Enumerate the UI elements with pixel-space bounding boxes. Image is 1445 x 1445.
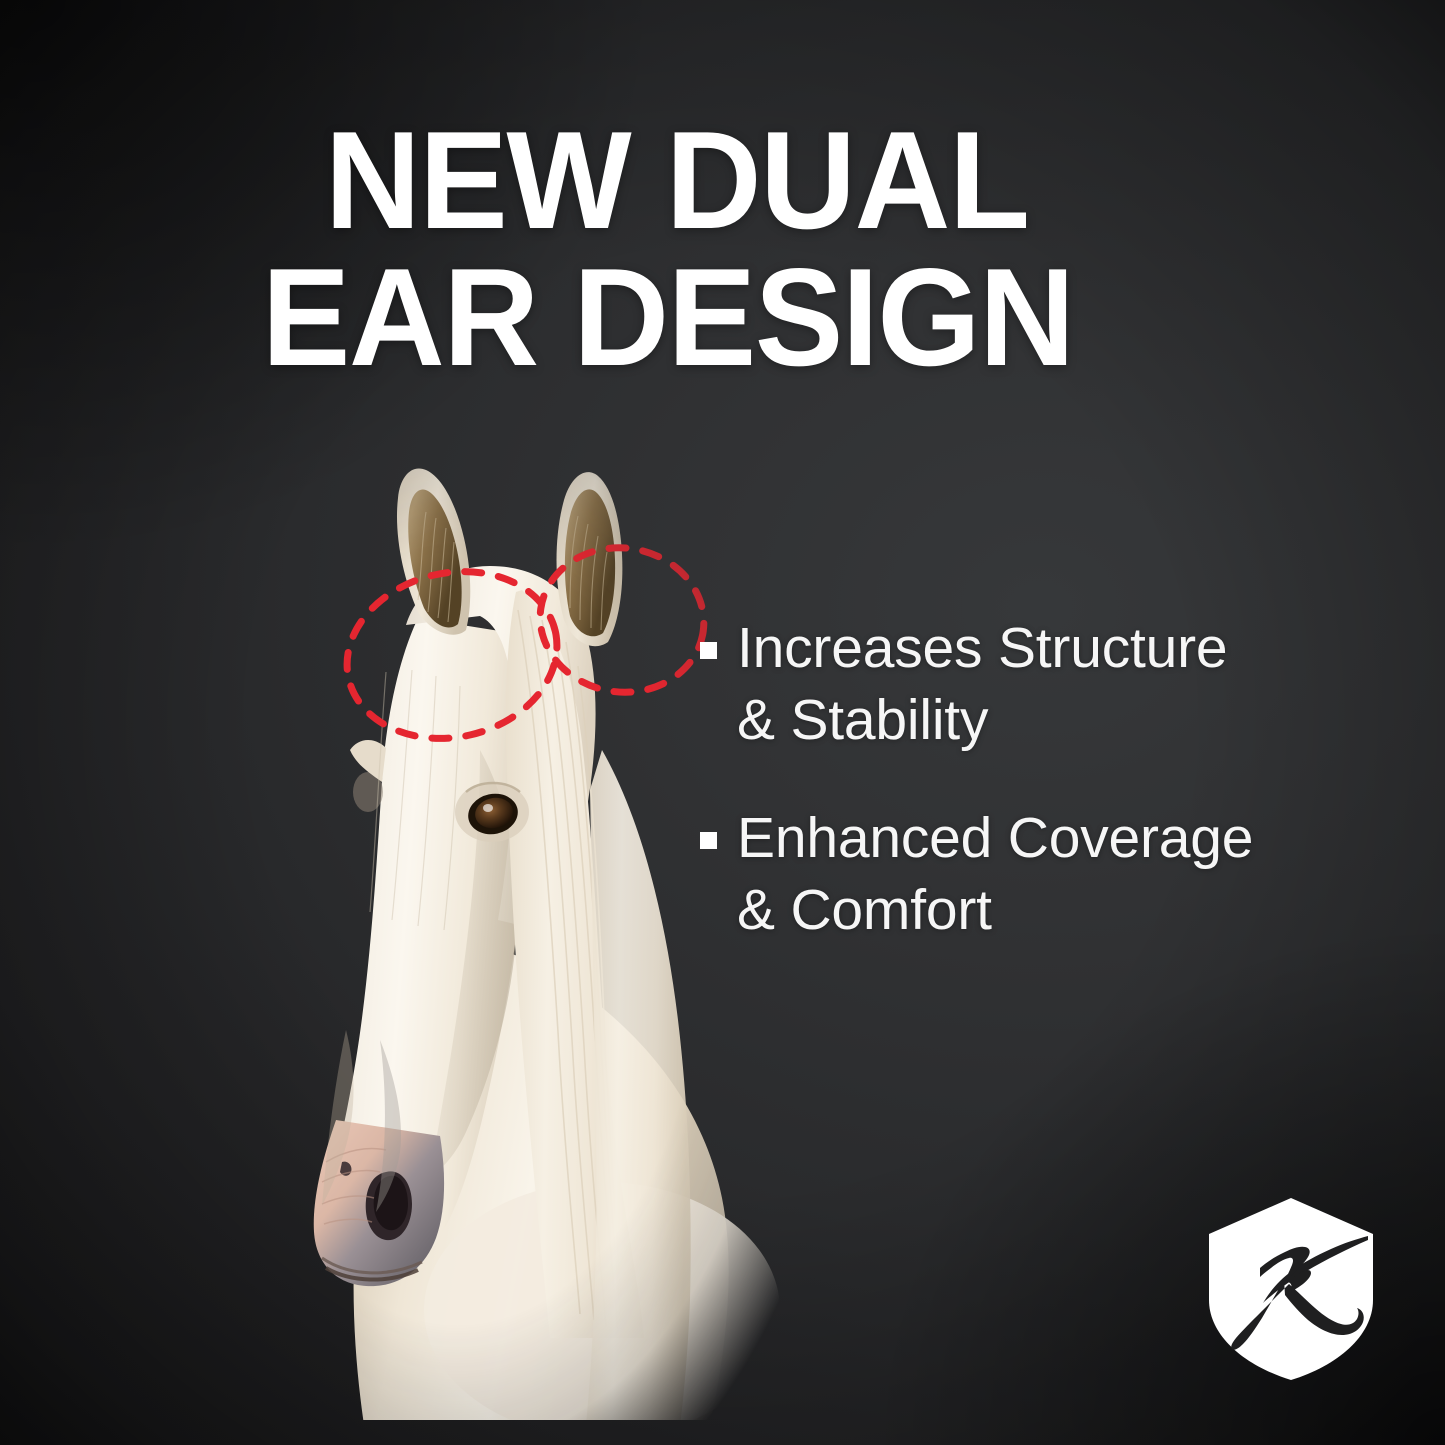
horse-illustration bbox=[150, 420, 790, 1420]
feature-text: Enhanced Coverage & Comfort bbox=[737, 802, 1253, 946]
horse-mane-right bbox=[586, 750, 691, 1420]
shield-k-logo-icon bbox=[1205, 1196, 1377, 1382]
headline-line-2: EAR DESIGN bbox=[258, 249, 1175, 386]
horse-eye bbox=[455, 782, 529, 842]
square-bullet-icon bbox=[700, 642, 717, 659]
headline-line-1: NEW DUAL bbox=[258, 112, 1175, 249]
horse-right-ear bbox=[557, 472, 623, 646]
promo-banner: NEW DUALEAR DESIGN Increases Structure &… bbox=[0, 0, 1445, 1445]
square-bullet-icon bbox=[700, 832, 717, 849]
list-item: Increases Structure & Stability bbox=[700, 612, 1360, 756]
list-item: Enhanced Coverage & Comfort bbox=[700, 802, 1360, 946]
brand-logo bbox=[1205, 1196, 1377, 1382]
feature-list: Increases Structure & Stability Enhanced… bbox=[700, 612, 1360, 946]
page-title: NEW DUALEAR DESIGN bbox=[258, 112, 1175, 386]
horse-photo bbox=[150, 420, 790, 1420]
feature-text: Increases Structure & Stability bbox=[737, 612, 1227, 756]
horse-left-ear bbox=[397, 468, 470, 634]
